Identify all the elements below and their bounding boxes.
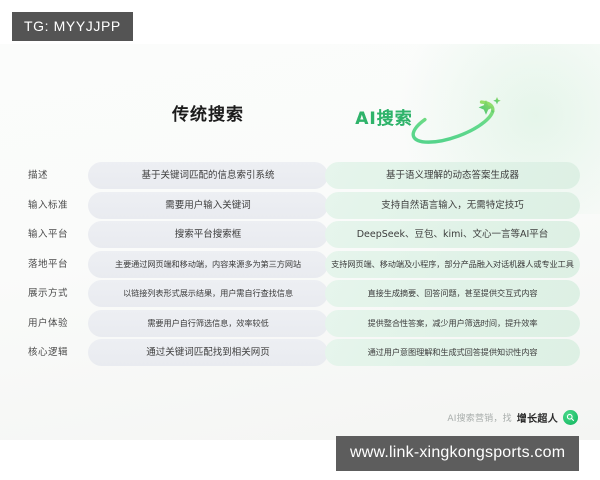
table-row: 输入平台 搜索平台搜索框 DeepSeek、豆包、kimi、文心一言等AI平台 xyxy=(0,221,600,248)
traditional-value: 搜索平台搜索框 xyxy=(88,221,328,248)
row-label: 输入平台 xyxy=(28,221,84,248)
table-row: 展示方式 以链接列表形式展示结果，用户需自行查找信息 直接生成摘要、回答问题，甚… xyxy=(0,280,600,307)
table-row: 核心逻辑 通过关键词匹配找到相关网页 通过用户意图理解和生成式回答提供知识性内容 xyxy=(0,339,600,366)
search-circle-icon xyxy=(563,410,578,425)
column-headings: 传统搜索 xyxy=(0,100,600,152)
ai-value: 支持网页端、移动端及小程序，部分产品融入对话机器人或专业工具 xyxy=(325,251,580,278)
traditional-value: 需要用户自行筛选信息，效率较低 xyxy=(88,310,328,337)
row-label: 核心逻辑 xyxy=(28,339,84,366)
column-heading-ai-wrap: AI搜索 xyxy=(325,92,580,148)
column-heading-ai: AI搜索 xyxy=(325,104,443,129)
column-heading-traditional: 传统搜索 xyxy=(88,100,328,125)
ai-value: 通过用户意图理解和生成式回答提供知识性内容 xyxy=(325,339,580,366)
traditional-value: 以链接列表形式展示结果，用户需自行查找信息 xyxy=(88,280,328,307)
ai-value: 基于语义理解的动态答案生成器 xyxy=(325,162,580,189)
table-row: 输入标准 需要用户输入关键词 支持自然语言输入，无需特定技巧 xyxy=(0,192,600,219)
table-row: 落地平台 主要通过网页端和移动端，内容来源多为第三方网站 支持网页端、移动端及小… xyxy=(0,251,600,278)
traditional-value: 通过关键词匹配找到相关网页 xyxy=(88,339,328,366)
traditional-value: 基于关键词匹配的信息索引系统 xyxy=(88,162,328,189)
row-label: 展示方式 xyxy=(28,280,84,307)
footer-brand-line: AI搜索营销，找 增长超人 xyxy=(447,406,578,428)
ai-value: 支持自然语言输入，无需特定技巧 xyxy=(325,192,580,219)
traditional-value: 需要用户输入关键词 xyxy=(88,192,328,219)
row-label: 输入标准 xyxy=(28,192,84,219)
table-row: 用户体验 需要用户自行筛选信息，效率较低 提供整合性答案，减少用户筛选时间，提升… xyxy=(0,310,600,337)
table-row: 描述 基于关键词匹配的信息索引系统 基于语义理解的动态答案生成器 xyxy=(0,162,600,189)
ai-value: 提供整合性答案，减少用户筛选时间，提升效率 xyxy=(325,310,580,337)
traditional-value: 主要通过网页端和移动端，内容来源多为第三方网站 xyxy=(88,251,328,278)
ai-value: DeepSeek、豆包、kimi、文心一言等AI平台 xyxy=(325,221,580,248)
ai-value: 直接生成摘要、回答问题，甚至提供交互式内容 xyxy=(325,280,580,307)
comparison-rows: 描述 基于关键词匹配的信息索引系统 基于语义理解的动态答案生成器 输入标准 需要… xyxy=(0,162,600,369)
row-label: 落地平台 xyxy=(28,251,84,278)
comparison-card: 传统搜索 xyxy=(0,44,600,440)
watermark-top-left: TG: MYYJJPP xyxy=(12,12,133,41)
footer-prefix-text: AI搜索营销，找 xyxy=(447,411,511,424)
footer-brand-name: 增长超人 xyxy=(517,410,558,425)
row-label: 用户体验 xyxy=(28,310,84,337)
watermark-bottom-right: www.link-xingkongsports.com xyxy=(336,436,579,471)
row-label: 描述 xyxy=(28,162,84,189)
